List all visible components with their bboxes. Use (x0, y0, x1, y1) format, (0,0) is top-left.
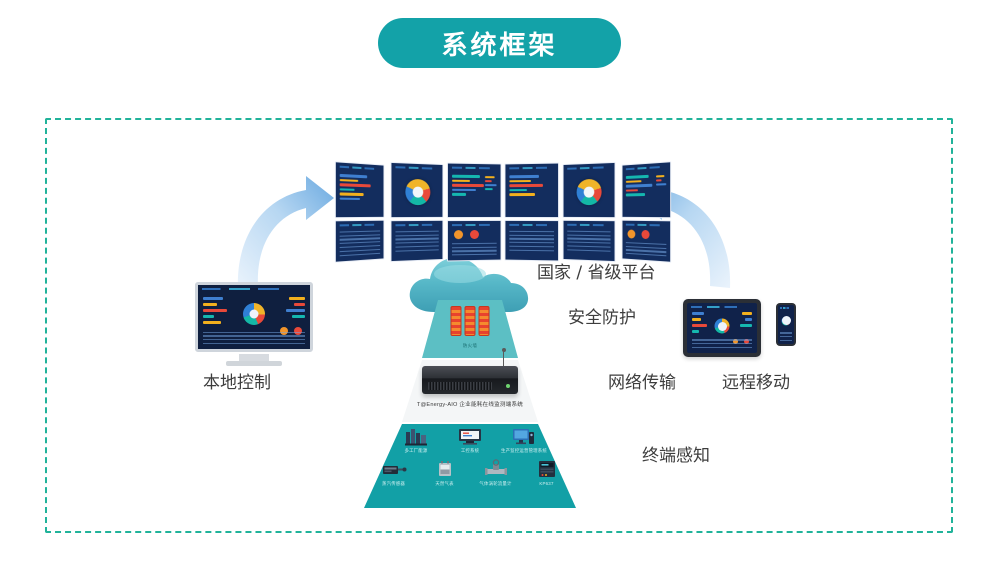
tablet-screen (687, 303, 757, 353)
wall-screen (622, 161, 671, 218)
smartphone-device (776, 303, 796, 346)
server-icon (422, 366, 518, 394)
terminal-device-label: KP637 (539, 481, 553, 486)
label-security-protection: 安全防护 (568, 303, 636, 328)
server-label: T@Energy-AIO 企业能耗在线监测端系统 (417, 400, 523, 408)
label-local-control: 本地控制 (203, 368, 271, 393)
wall-screen (504, 163, 559, 218)
page-title-pill: 系统框架 (378, 18, 621, 68)
firewall-icon (451, 306, 490, 336)
terminal-device-item: 气体涡轮流量计 (477, 459, 514, 487)
wall-screen (622, 220, 671, 263)
terminal-device-label: 工控系统 (461, 448, 479, 454)
terminal-device-item: 蒸汽传感器 (375, 459, 412, 487)
gas-meter-icon (432, 459, 458, 479)
wall-screen (447, 220, 502, 262)
firewall-label: 防火墙 (463, 343, 477, 349)
wall-screen (563, 162, 616, 218)
terminal-device-item: 工控系统 (450, 426, 490, 454)
wall-screen (335, 220, 384, 263)
label-network-transmission: 网络传输 (608, 368, 676, 393)
curved-arrow-left (228, 168, 338, 290)
label-remote-mobile: 远程移动 (722, 368, 790, 393)
industrial-control-icon (457, 426, 483, 446)
terminal-device-label: 气体涡轮流量计 (479, 481, 511, 487)
label-terminal-sensing: 终端感知 (642, 441, 710, 466)
terminal-device-item: 天然气表 (426, 459, 463, 487)
controller-icon (534, 459, 560, 479)
terminal-device-row-1: 多工厂能源 工控系统 (375, 426, 565, 454)
factory-icon (403, 426, 429, 446)
wall-screen (504, 220, 559, 262)
tablet-device (683, 299, 761, 357)
terminal-device-label: 天然气表 (435, 481, 453, 487)
label-national-platform: 国家 / 省级平台 (537, 258, 656, 283)
terminal-device-label: 蒸汽传感器 (382, 481, 405, 487)
wall-screen (390, 220, 443, 262)
wall-screen (447, 163, 502, 218)
monitor-base (226, 361, 282, 366)
terminal-device-row-2: 蒸汽传感器 天然气表 (375, 459, 565, 487)
monitor-screen (195, 282, 313, 352)
terminal-device-item: KP637 (528, 459, 565, 487)
steam-sensor-icon (381, 459, 407, 479)
desktop-monitor (195, 282, 313, 364)
terminal-device-item: 生产监控运营管理系统 (504, 426, 544, 454)
architecture-pyramid: 防火墙 T@Energy-AIO 企业能耗在线监测端系统 (350, 300, 590, 510)
terminal-device-grid: 多工厂能源 工控系统 (375, 426, 565, 492)
wall-screen (390, 162, 443, 218)
page-title: 系统框架 (441, 25, 557, 62)
video-wall (333, 163, 668, 261)
system-framework-diagram: 系统框架 (0, 0, 1000, 566)
wall-screen (335, 161, 384, 218)
wall-screen (563, 220, 616, 262)
turbine-flowmeter-icon (483, 459, 509, 479)
terminal-device-item: 多工厂能源 (396, 426, 436, 454)
server-unit (422, 366, 518, 394)
production-monitor-icon (511, 426, 537, 446)
phone-screen (778, 305, 794, 344)
terminal-device-label: 生产监控运营管理系统 (501, 448, 547, 454)
terminal-device-label: 多工厂能源 (405, 448, 428, 454)
